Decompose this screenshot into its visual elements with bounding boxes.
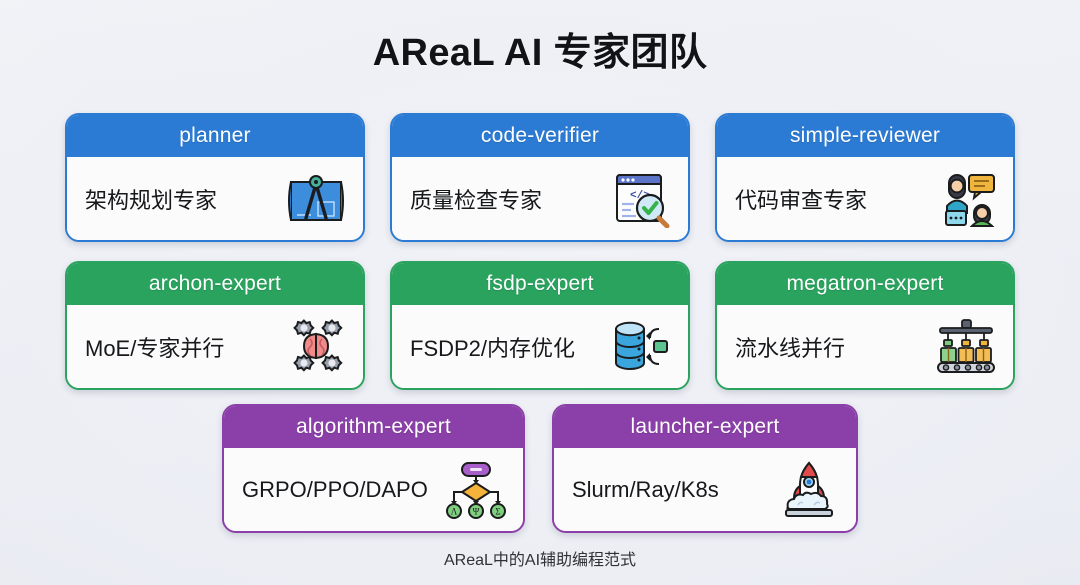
card-title: code-verifier xyxy=(392,115,688,157)
card-title: launcher-expert xyxy=(554,406,856,448)
card-algorithm-expert[interactable]: algorithm-expert GRPO/PPO/DAPO xyxy=(222,404,525,533)
card-body: FSDP2/内存优化 xyxy=(392,305,688,388)
rocket-launch-icon xyxy=(776,459,842,521)
card-description: FSDP2/内存优化 xyxy=(410,331,575,363)
page-title: AReaL AI 专家团队 xyxy=(0,21,1080,76)
flowchart-label-1: Λ xyxy=(451,506,458,516)
card-simple-reviewer[interactable]: simple-reviewer 代码审查专家 xyxy=(715,113,1015,242)
card-body: 流水线并行 xyxy=(717,305,1013,388)
card-title: fsdp-expert xyxy=(392,263,688,305)
card-megatron-expert[interactable]: megatron-expert 流水线并行 xyxy=(715,261,1015,390)
card-archon-expert[interactable]: archon-expert MoE/专家并行 xyxy=(65,261,365,390)
card-body: MoE/专家并行 xyxy=(67,305,363,388)
brain-gears-icon xyxy=(283,316,349,378)
database-cylinder-icon xyxy=(608,316,674,378)
slide-stage: AReaL AI 专家团队 planner 架构规划专家 co xyxy=(0,0,1080,585)
card-body: 代码审查专家 xyxy=(717,157,1013,240)
card-title: megatron-expert xyxy=(717,263,1013,305)
card-title: planner xyxy=(67,115,363,157)
card-body: GRPO/PPO/DAPO xyxy=(224,448,523,531)
card-description: MoE/专家并行 xyxy=(85,331,224,363)
card-title: simple-reviewer xyxy=(717,115,1013,157)
assembly-line-icon xyxy=(933,316,999,378)
card-code-verifier[interactable]: code-verifier 质量检查专家 </> xyxy=(390,113,690,242)
flowchart-icon: Λ Ψ Σ xyxy=(443,459,509,521)
code-window-magnifier-icon: </> xyxy=(608,168,674,230)
card-description: GRPO/PPO/DAPO xyxy=(242,477,428,503)
card-description: 架构规划专家 xyxy=(85,183,217,215)
card-body: 架构规划专家 xyxy=(67,157,363,240)
slide-caption: AReaL中的AI辅助编程范式 xyxy=(0,546,1080,570)
card-title: algorithm-expert xyxy=(224,406,523,448)
card-description: 代码审查专家 xyxy=(735,183,867,215)
card-body: 质量检查专家 </> xyxy=(392,157,688,240)
card-launcher-expert[interactable]: launcher-expert Slurm/Ray/K8s xyxy=(552,404,858,533)
two-people-review-icon xyxy=(933,168,999,230)
flowchart-label-3: Σ xyxy=(495,506,500,516)
card-fsdp-expert[interactable]: fsdp-expert FSDP2/内存优化 xyxy=(390,261,690,390)
card-body: Slurm/Ray/K8s xyxy=(554,448,856,531)
card-description: 流水线并行 xyxy=(735,331,845,363)
flowchart-label-2: Ψ xyxy=(473,506,480,516)
card-description: Slurm/Ray/K8s xyxy=(572,477,719,503)
card-title: archon-expert xyxy=(67,263,363,305)
card-planner[interactable]: planner 架构规划专家 xyxy=(65,113,365,242)
blueprint-compass-icon xyxy=(283,168,349,230)
card-description: 质量检查专家 xyxy=(410,183,542,215)
